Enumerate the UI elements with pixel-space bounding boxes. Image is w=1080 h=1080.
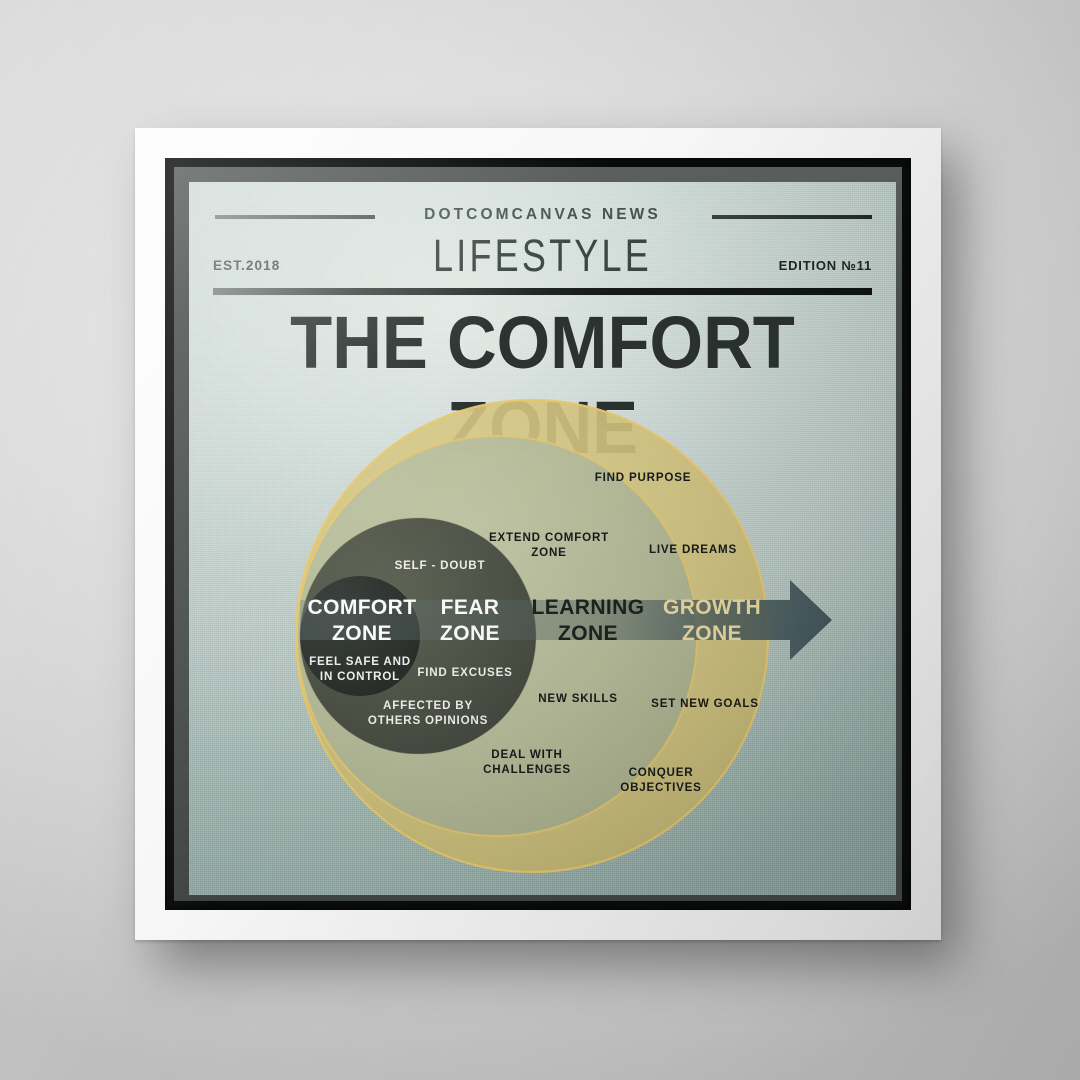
- zone-title-comfort-line2: ZONE: [332, 622, 392, 645]
- label-affected-by-line2: OTHERS OPINIONS: [368, 714, 488, 727]
- label-live-dreams: LIVE DREAMS: [649, 543, 737, 556]
- label-affected-by-line1: AFFECTED BY: [383, 699, 473, 712]
- picture-frame: DOTCOMCANVAS NEWS LIFESTYLE EST.2018 EDI…: [135, 128, 941, 940]
- label-feel-safe-line2: IN CONTROL: [320, 670, 400, 683]
- comfort-zone-diagram: COMFORT ZONE FEAR ZONE LEARNING ZONE GRO…: [189, 182, 896, 895]
- canvas-print-face: DOTCOMCANVAS NEWS LIFESTYLE EST.2018 EDI…: [189, 182, 896, 895]
- artwork: DOTCOMCANVAS NEWS LIFESTYLE EST.2018 EDI…: [189, 182, 896, 895]
- zone-title-comfort-line1: COMFORT: [308, 596, 417, 619]
- label-extend-comfort-line2: ZONE: [531, 546, 566, 559]
- label-find-purpose: FIND PURPOSE: [595, 471, 692, 484]
- zone-title-fear-line2: ZONE: [440, 622, 500, 645]
- label-new-skills: NEW SKILLS: [538, 692, 618, 705]
- label-self-doubt: SELF - DOUBT: [395, 559, 486, 572]
- wall-background: DOTCOMCANVAS NEWS LIFESTYLE EST.2018 EDI…: [0, 0, 1080, 1080]
- label-set-new-goals: SET NEW GOALS: [651, 697, 759, 710]
- zone-title-learning-line2: ZONE: [558, 622, 618, 645]
- zone-title-learning-line1: LEARNING: [532, 596, 645, 619]
- label-conquer-line1: CONQUER: [629, 766, 694, 779]
- canvas-wrapped-edge: DOTCOMCANVAS NEWS LIFESTYLE EST.2018 EDI…: [174, 167, 902, 901]
- label-feel-safe-line1: FEEL SAFE AND: [309, 655, 411, 668]
- zone-title-fear-line1: FEAR: [441, 596, 500, 619]
- zone-title-growth-line1: GROWTH: [663, 596, 761, 619]
- label-extend-comfort-line1: EXTEND COMFORT: [489, 531, 609, 544]
- frame-reveal-gap: DOTCOMCANVAS NEWS LIFESTYLE EST.2018 EDI…: [165, 158, 911, 910]
- label-find-excuses: FIND EXCUSES: [417, 666, 512, 679]
- label-deal-with-line2: CHALLENGES: [483, 763, 571, 776]
- label-deal-with-line1: DEAL WITH: [491, 748, 562, 761]
- zone-title-growth-line2: ZONE: [682, 622, 742, 645]
- label-conquer-line2: OBJECTIVES: [620, 781, 701, 794]
